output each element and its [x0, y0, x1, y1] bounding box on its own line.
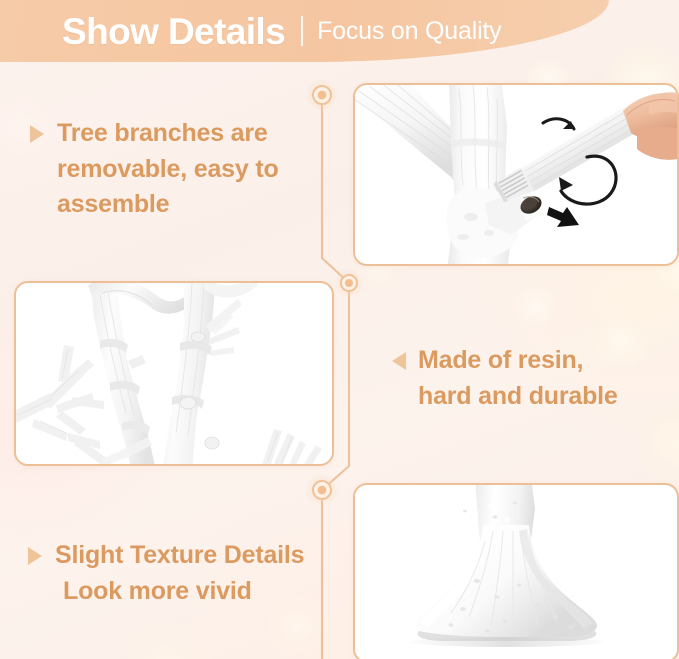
base-illustration — [355, 485, 677, 659]
feature-text-removable: Tree branches are removable, easy to ass… — [30, 116, 330, 223]
triangle-right-icon — [28, 547, 42, 565]
photo-branches — [16, 283, 332, 464]
node-glow — [305, 473, 339, 507]
photo-base — [355, 485, 677, 659]
triangle-right-icon — [30, 125, 44, 143]
feature-line: Slight Texture Details — [55, 538, 304, 574]
assembly-illustration — [355, 85, 677, 264]
connector-node-top — [313, 86, 331, 104]
feature-line: assemble — [57, 187, 279, 223]
bokeh-light — [120, 620, 212, 659]
branches-illustration — [16, 283, 332, 464]
feature-line: Look more vivid — [55, 574, 304, 610]
connector-node-bottom-core — [318, 486, 327, 495]
triangle-left-icon — [392, 352, 406, 370]
feature-text-resin: Made of resin, hard and durable — [392, 343, 662, 414]
connector-node-middle-core — [345, 279, 353, 287]
photo-panel-assembly — [353, 83, 679, 266]
feature-line: removable, easy to — [57, 152, 279, 188]
page-subtitle: Focus on Quality — [317, 19, 501, 44]
connector-node-top-core — [318, 91, 327, 100]
title-divider — [301, 16, 303, 46]
node-glow — [305, 78, 339, 112]
photo-panel-base — [353, 483, 679, 659]
bokeh-light — [514, 286, 556, 328]
feature-line: hard and durable — [418, 379, 618, 415]
connector-node-bottom — [313, 481, 331, 499]
connector-node-middle — [341, 275, 357, 291]
photo-panel-branches — [14, 281, 334, 466]
feature-text-texture: Slight Texture Details Look more vivid — [28, 538, 328, 609]
photo-assembly — [355, 85, 677, 264]
node-glow — [334, 268, 364, 298]
page-title: Show Details — [62, 13, 285, 50]
feature-line: Made of resin, — [418, 343, 618, 379]
infographic-page: Show Details Focus on Quality — [0, 0, 679, 659]
header-banner: Show Details Focus on Quality — [0, 0, 609, 62]
feature-line: Tree branches are — [57, 116, 279, 152]
